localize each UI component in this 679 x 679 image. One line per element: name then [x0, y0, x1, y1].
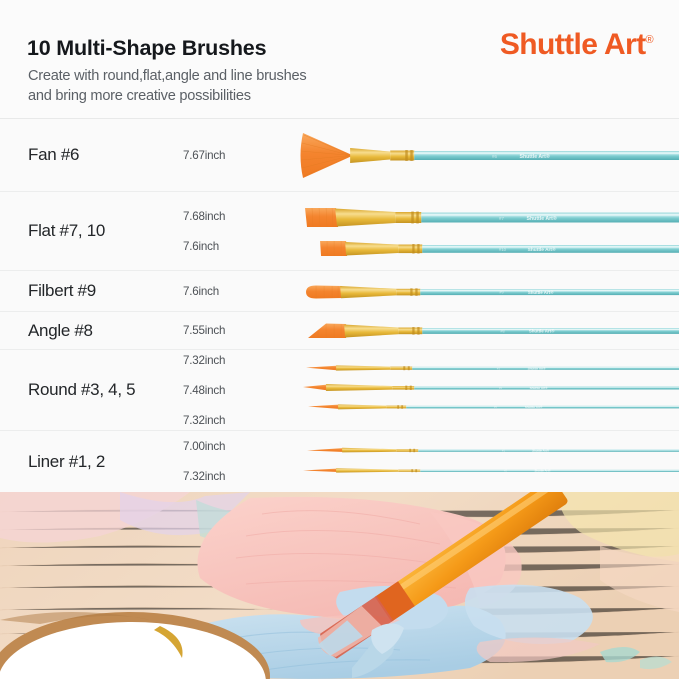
svg-text:Shuttle Art®: Shuttle Art® [528, 246, 556, 253]
registered-trademark-icon: ® [645, 34, 653, 46]
brush-size: 7.32inch [183, 470, 298, 483]
lifestyle-photo [0, 492, 679, 679]
brush-illustration-liner: Shuttle Art® #1 Shuttle Art® [298, 431, 679, 492]
page-header: 10 Multi-Shape Brushes Create with round… [0, 0, 679, 118]
subtitle-line-2: and bring more creative possibilities [28, 86, 306, 106]
table-row: Filbert #9 7.6inch [0, 270, 679, 311]
brush-size: 7.48inch [183, 384, 298, 397]
brush-illustration-angle: Shuttle Art® #8 [298, 312, 679, 349]
svg-text:#6: #6 [492, 154, 497, 159]
brush-name: Liner #1, 2 [0, 452, 183, 472]
table-row: Flat #7, 10 7.68inch 7.6inch [0, 191, 679, 270]
brush-illustration-filbert: Shuttle Art® #9 [298, 271, 679, 311]
svg-text:#4: #4 [499, 386, 503, 390]
subtitle-line-1: Create with round,flat,angle and line br… [28, 66, 306, 86]
product-spec-page: 10 Multi-Shape Brushes Create with round… [0, 0, 679, 679]
brush-size: 7.32inch [183, 414, 298, 427]
svg-text:#5: #5 [494, 405, 497, 409]
brush-name: Filbert #9 [0, 281, 183, 301]
table-row: Angle #8 7.55inch [0, 311, 679, 349]
brush-sizes: 7.68inch 7.6inch [183, 210, 298, 253]
brush-name: Fan #6 [0, 145, 183, 165]
brush-size: 7.00inch [183, 440, 298, 453]
brush-name: Flat #7, 10 [0, 221, 183, 241]
table-row: Liner #1, 2 7.00inch 7.32inch [0, 430, 679, 492]
brush-sizes: 7.67inch [183, 149, 298, 162]
brand-logo-text: Shuttle Art [500, 28, 646, 61]
brush-illustration-flat: Shuttle Art® #7 [298, 192, 679, 270]
brush-name: Angle #8 [0, 321, 183, 341]
svg-text:#9: #9 [499, 290, 503, 295]
svg-text:Shuttle Art®: Shuttle Art® [530, 386, 549, 390]
svg-text:#8: #8 [500, 329, 504, 334]
brush-illustration-round: Shuttle Art® #3 Shuttle Art® [298, 350, 679, 430]
svg-text:#10: #10 [499, 247, 507, 252]
page-subtitle: Create with round,flat,angle and line br… [28, 66, 306, 106]
brush-sizes: 7.55inch [183, 324, 298, 337]
svg-text:Shuttle Art®: Shuttle Art® [525, 405, 543, 409]
page-title: 10 Multi-Shape Brushes [27, 36, 266, 61]
svg-text:Shuttle Art®: Shuttle Art® [532, 449, 550, 453]
svg-text:#3: #3 [497, 366, 501, 370]
svg-text:Shuttle Art®: Shuttle Art® [534, 469, 551, 473]
brush-size: 7.6inch [183, 240, 298, 253]
brush-size: 7.67inch [183, 149, 298, 162]
brush-size: 7.68inch [183, 210, 298, 223]
svg-text:Shuttle Art®: Shuttle Art® [528, 290, 554, 295]
table-row: Fan #6 7.67inch [0, 118, 679, 191]
svg-text:Shuttle Art®: Shuttle Art® [519, 153, 549, 160]
brush-size: 7.55inch [183, 324, 298, 337]
brush-sizes: 7.00inch 7.32inch [183, 440, 298, 483]
table-row: Round #3, 4, 5 7.32inch 7.48inch 7.32inc… [0, 349, 679, 430]
svg-text:#7: #7 [499, 216, 504, 221]
brush-sizes: 7.6inch [183, 285, 298, 298]
svg-text:Shuttle Art®: Shuttle Art® [529, 329, 555, 334]
svg-text:Shuttle Art®: Shuttle Art® [527, 215, 557, 222]
spec-table: Fan #6 7.67inch [0, 118, 679, 492]
brush-size: 7.32inch [183, 354, 298, 367]
brush-illustration-fan: Shuttle Art® #6 [298, 119, 679, 191]
svg-text:Shuttle Art®: Shuttle Art® [528, 366, 547, 370]
brand-logo: Shuttle Art® [500, 28, 653, 62]
brush-name: Round #3, 4, 5 [0, 380, 183, 400]
brush-size: 7.6inch [183, 285, 298, 298]
brush-sizes: 7.32inch 7.48inch 7.32inch [183, 354, 298, 427]
